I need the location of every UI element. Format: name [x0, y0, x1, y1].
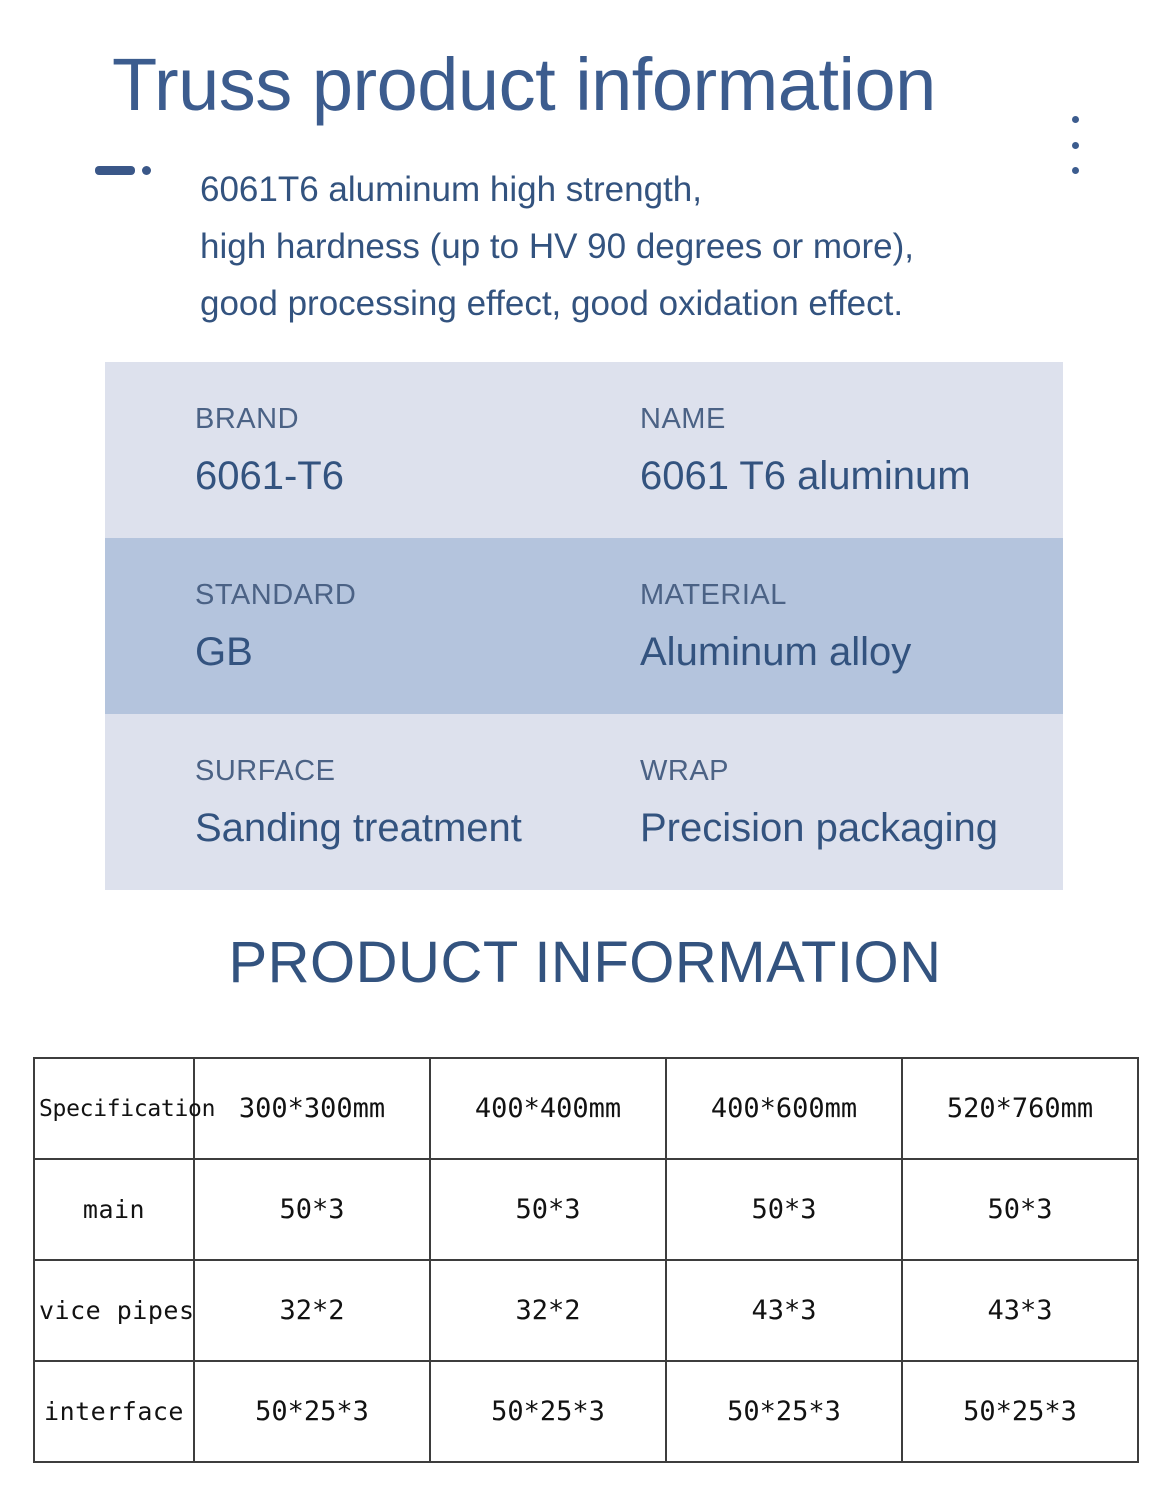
spec-value-name: 6061 T6 aluminum — [640, 453, 1063, 499]
table-row: interface 50*25*3 50*25*3 50*25*3 50*25*… — [34, 1361, 1138, 1462]
table-header-size-2: 400*400mm — [430, 1058, 666, 1159]
table-cell-interface-4: 50*25*3 — [902, 1361, 1138, 1462]
table-header-size-3: 400*600mm — [666, 1058, 902, 1159]
spec-value-wrap: Precision packaging — [640, 805, 1063, 851]
table-rowlabel-main: main — [34, 1159, 194, 1260]
table-row: vice pipes 32*2 32*2 43*3 43*3 — [34, 1260, 1138, 1361]
table-header-size-4: 520*760mm — [902, 1058, 1138, 1159]
spec-label-wrap: WRAP — [640, 753, 1063, 789]
table-header-size-1: 300*300mm — [194, 1058, 430, 1159]
section-heading-product-information: PRODUCT INFORMATION — [0, 928, 1170, 998]
table-cell-interface-3: 50*25*3 — [666, 1361, 902, 1462]
table-cell-vice-3: 43*3 — [666, 1260, 902, 1361]
bullet-dash — [95, 166, 135, 175]
page-title: Truss product information — [112, 42, 936, 128]
spec-value-brand: 6061-T6 — [195, 453, 575, 499]
spec-cell-brand: BRAND 6061-T6 — [105, 362, 575, 538]
table-cell-vice-4: 43*3 — [902, 1260, 1138, 1361]
spec-value-standard: GB — [195, 629, 575, 675]
table-rowlabel-vice-pipes: vice pipes — [34, 1260, 194, 1361]
table-cell-interface-2: 50*25*3 — [430, 1361, 666, 1462]
table-cell-vice-2: 32*2 — [430, 1260, 666, 1361]
table-cell-main-2: 50*3 — [430, 1159, 666, 1260]
dash-dot-bullet-icon — [95, 166, 151, 175]
spec-cell-material: MATERIAL Aluminum alloy — [575, 538, 1063, 714]
specification-card: BRAND 6061-T6 NAME 6061 T6 aluminum STAN… — [105, 362, 1063, 890]
spec-cell-standard: STANDARD GB — [105, 538, 575, 714]
spec-label-name: NAME — [640, 401, 1063, 437]
table-cell-interface-1: 50*25*3 — [194, 1361, 430, 1462]
table-cell-vice-1: 32*2 — [194, 1260, 430, 1361]
subtitle-description: 6061T6 aluminum high strength, high hard… — [200, 161, 1080, 332]
spec-label-standard: STANDARD — [195, 577, 575, 613]
table-header-specification: Specification — [34, 1058, 194, 1159]
spec-value-material: Aluminum alloy — [640, 629, 1063, 675]
product-specification-table: Specification 300*300mm 400*400mm 400*60… — [33, 1057, 1137, 1463]
table-cell-main-1: 50*3 — [194, 1159, 430, 1260]
product-information-page: Truss product information 6061T6 aluminu… — [0, 0, 1170, 1509]
spec-row-standard-material: STANDARD GB MATERIAL Aluminum alloy — [105, 538, 1063, 714]
table-row-header: Specification 300*300mm 400*400mm 400*60… — [34, 1058, 1138, 1159]
bullet-dot — [142, 166, 151, 175]
table-row: main 50*3 50*3 50*3 50*3 — [34, 1159, 1138, 1260]
spec-value-surface: Sanding treatment — [195, 805, 575, 851]
table-cell-main-3: 50*3 — [666, 1159, 902, 1260]
table-cell-main-4: 50*3 — [902, 1159, 1138, 1260]
spec-row-brand-name: BRAND 6061-T6 NAME 6061 T6 aluminum — [105, 362, 1063, 538]
spec-label-surface: SURFACE — [195, 753, 575, 789]
spec-cell-name: NAME 6061 T6 aluminum — [575, 362, 1063, 538]
spec-cell-surface: SURFACE Sanding treatment — [105, 714, 575, 890]
spec-label-material: MATERIAL — [640, 577, 1063, 613]
spec-label-brand: BRAND — [195, 401, 575, 437]
ellipsis-dot-1 — [1072, 116, 1079, 123]
ellipsis-dot-2 — [1072, 142, 1079, 149]
spec-row-surface-wrap: SURFACE Sanding treatment WRAP Precision… — [105, 714, 1063, 890]
spec-cell-wrap: WRAP Precision packaging — [575, 714, 1063, 890]
table-rowlabel-interface: interface — [34, 1361, 194, 1462]
